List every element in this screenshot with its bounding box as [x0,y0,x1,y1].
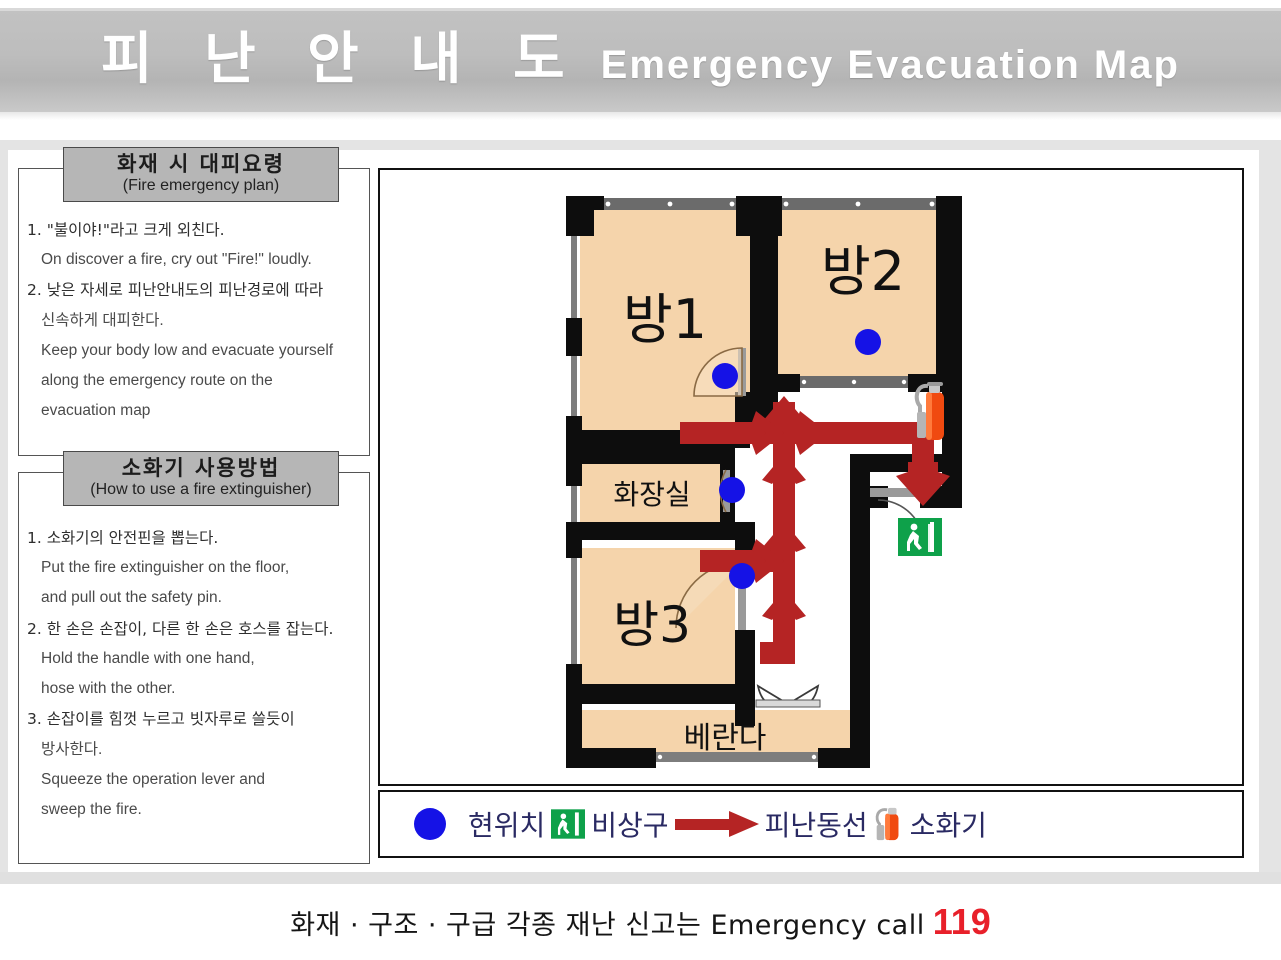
floorplan-drawing: 방1 방2 화장실 방3 베란다 [380,170,1242,784]
veranda-double-door-icon [756,686,820,707]
room-label-bathroom: 화장실 [613,478,690,511]
legend-label-current-location: 현위치 [468,804,545,844]
current-location-dot-bathroom [719,477,745,503]
page-header-banner: 피 난 안 내 도 Emergency Evacuation Map [0,8,1281,112]
extinguisher-line-3: and pull out the safety pin. [27,583,359,613]
page-title-korean: 피 난 안 내 도 [101,32,581,88]
room-label-room1: 방1 [623,288,707,351]
fire-extinguisher-icon [874,806,904,842]
fire-plan-line-5: Keep your body low and evacuate yourself [27,336,359,366]
extinguisher-line-6: hose with the other. [27,674,359,704]
extinguisher-line-5: Hold the handle with one hand, [27,644,359,674]
current-location-dot-room2 [855,329,881,355]
evacuation-map-page: 피 난 안 내 도 Emergency Evacuation Map 화재 시 … [0,0,1281,960]
fire-emergency-plan-title-en: (Fire emergency plan) [64,176,338,195]
map-legend: 현위치 비상구 피난동선 소화기 [378,790,1244,858]
fire-extinguisher-usage-body: 1. 소화기의 안전핀을 뽑는다. Put the fire extinguis… [19,473,369,833]
room-label-room2: 방2 [821,240,905,303]
fire-plan-line-4: 신속하게 대피한다. [27,306,359,336]
fire-extinguisher-usage-panel: 소화기 사용방법 (How to use a fire extinguisher… [18,472,370,864]
current-location-dot-icon [414,808,446,840]
room-label-veranda: 베란다 [684,721,767,756]
fire-plan-line-7: evacuation map [27,396,359,426]
body-right-margin [1259,140,1281,880]
fire-extinguisher-title-en: (How to use a fire extinguisher) [64,480,338,499]
body-left-margin [0,140,8,880]
fire-emergency-plan-panel: 화재 시 대피요령 (Fire emergency plan) 1. "불이야!… [18,168,370,456]
evacuation-route-arrow-icon [675,811,759,837]
fire-plan-line-6: along the emergency route on the [27,366,359,396]
emergency-call-text: 화재 · 구조 · 구급 각종 재난 신고는 Emergency call [290,903,925,942]
body-bottom-margin [0,872,1281,884]
header-title-group: 피 난 안 내 도 Emergency Evacuation Map [101,32,1180,88]
fire-emergency-plan-header: 화재 시 대피요령 (Fire emergency plan) [63,147,339,202]
header-shadow-divider [0,112,1281,120]
extinguisher-line-8: 방사한다. [27,735,359,765]
room-label-room3: 방3 [613,596,691,654]
fire-plan-line-2: On discover a fire, cry out "Fire!" loud… [27,245,359,275]
extinguisher-line-1: 1. 소화기의 안전핀을 뽑는다. [27,523,359,553]
fire-extinguisher-usage-header: 소화기 사용방법 (How to use a fire extinguisher… [63,451,339,506]
legend-label-evacuation-route: 피난동선 [765,804,868,844]
page-title-english: Emergency Evacuation Map [601,45,1180,85]
floorplan-card: 방1 방2 화장실 방3 베란다 [378,168,1244,786]
fire-emergency-plan-title-ko: 화재 시 대피요령 [64,152,338,176]
extinguisher-line-2: Put the fire extinguisher on the floor, [27,553,359,583]
current-location-dot-room3 [729,563,755,589]
fire-plan-line-3: 2. 낮은 자세로 피난안내도의 피난경로에 따라 [27,275,359,305]
extinguisher-line-7: 3. 손잡이를 힘껏 누르고 빗자루로 쓸듯이 [27,704,359,734]
legend-label-emergency-exit: 비상구 [591,804,668,844]
legend-label-fire-extinguisher: 소화기 [910,804,987,844]
extinguisher-line-10: sweep the fire. [27,795,359,825]
emergency-exit-icon [898,518,942,556]
fire-emergency-plan-body: 1. "불이야!"라고 크게 외친다. On discover a fire, … [19,169,369,435]
instruction-panels: 화재 시 대피요령 (Fire emergency plan) 1. "불이야!… [18,168,370,868]
fire-extinguisher-title-ko: 소화기 사용방법 [64,456,338,480]
emergency-call-number: 119 [933,901,991,943]
extinguisher-line-9: Squeeze the operation lever and [27,765,359,795]
emergency-call-footer: 화재 · 구조 · 구급 각종 재난 신고는 Emergency call 11… [0,884,1281,960]
emergency-exit-icon [551,808,585,840]
extinguisher-line-4: 2. 한 손은 손잡이, 다른 한 손은 호스를 잡는다. [27,614,359,644]
fire-plan-line-1: 1. "불이야!"라고 크게 외친다. [27,215,359,245]
current-location-dot-room1 [712,363,738,389]
